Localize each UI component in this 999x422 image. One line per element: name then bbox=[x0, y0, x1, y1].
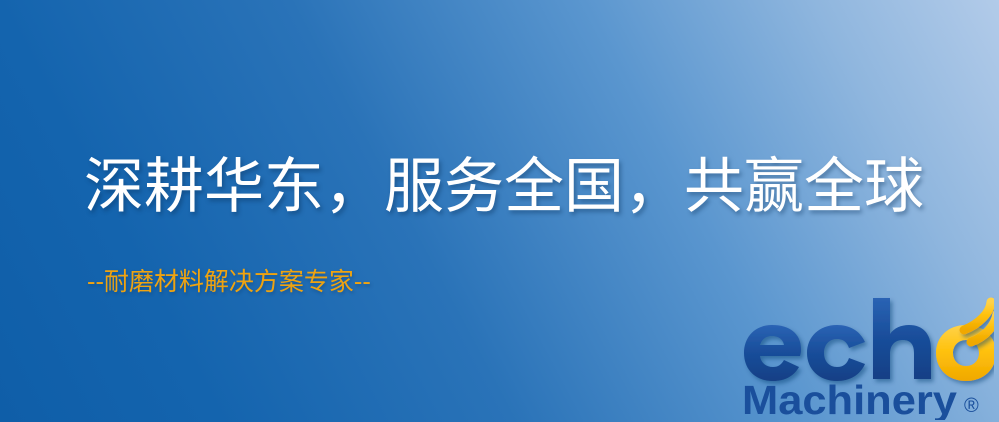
banner-headline: 深耕华东，服务全国，共赢全球 bbox=[84, 152, 924, 222]
logo-letter-e bbox=[744, 325, 801, 381]
logo-tagline: Machinery ® bbox=[742, 377, 979, 420]
logo-letter-h bbox=[873, 298, 931, 379]
logo-tagline-text: Machinery bbox=[742, 377, 957, 420]
promo-banner: 深耕华东，服务全国，共赢全球 --耐磨材料解决方案专家-- bbox=[0, 0, 999, 422]
logo-letter-c bbox=[807, 325, 865, 381]
banner-subtitle: --耐磨材料解决方案专家-- bbox=[87, 266, 371, 298]
logo-registered-mark: ® bbox=[964, 395, 979, 417]
echo-machinery-logo: Machinery ® bbox=[742, 296, 994, 420]
logo-wordmark-echo bbox=[744, 298, 994, 381]
